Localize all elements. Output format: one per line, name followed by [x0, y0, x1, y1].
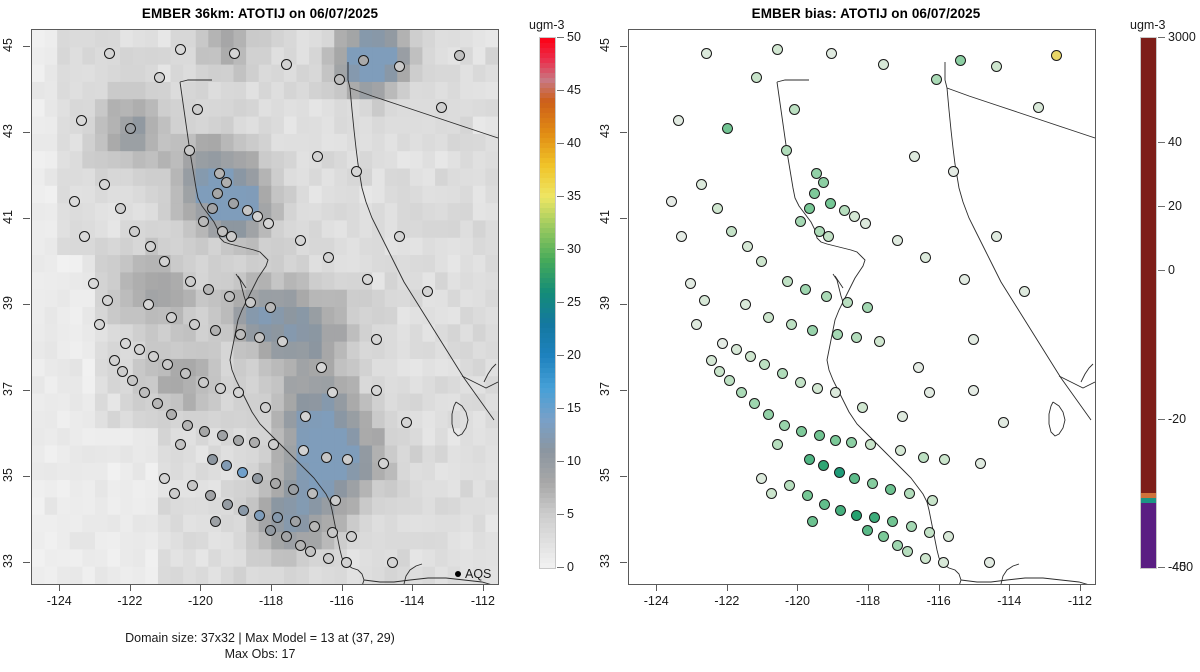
y-axis-tick-label: 37: [1, 374, 15, 404]
aqs-station-marker: [233, 387, 244, 398]
aqs-station-marker: [249, 437, 260, 448]
x-axis-tick-label: -114: [389, 594, 435, 608]
aqs-station-marker: [968, 385, 979, 396]
aqs-station-marker: [378, 458, 389, 469]
colorbar-tick: [1158, 270, 1165, 271]
aqs-station-marker: [673, 115, 684, 126]
colorbar-tick-label: 25: [567, 295, 581, 309]
colorbar-tick-label: -450: [1168, 560, 1193, 574]
aqs-station-marker: [924, 527, 935, 538]
aqs-station-marker: [834, 467, 845, 478]
aqs-station-marker: [867, 478, 878, 489]
aqs-station-marker: [166, 312, 177, 323]
y-axis-tick-label: 45: [598, 30, 612, 60]
aqs-station-marker: [175, 439, 186, 450]
aqs-station-marker: [252, 473, 263, 484]
aqs-station-marker: [221, 177, 232, 188]
x-axis-tick: [200, 584, 201, 591]
aqs-station-marker: [327, 527, 338, 538]
model-map[interactable]: [31, 29, 499, 585]
aqs-station-marker: [265, 525, 276, 536]
caption-line-2: Max Obs: 17: [10, 646, 510, 662]
colorbar-tick: [1158, 142, 1165, 143]
aqs-station-marker: [849, 473, 860, 484]
aqs-station-marker: [104, 48, 115, 59]
aqs-station-marker: [99, 179, 110, 190]
aqs-station-marker: [724, 375, 735, 386]
aqs-station-marker: [309, 521, 320, 532]
y-axis-tick: [620, 476, 627, 477]
aqs-station-marker: [802, 490, 813, 501]
bias-panel: EMBER bias: ATOTIJ on 06/07/2025 -124-12…: [600, 0, 1200, 672]
aqs-station-marker: [763, 312, 774, 323]
x-axis-tick-label: -116: [319, 594, 365, 608]
colorbar-tick: [1158, 37, 1165, 38]
aqs-station-marker: [887, 516, 898, 527]
x-axis-tick-label: -118: [248, 594, 294, 608]
aqs-station-marker: [233, 435, 244, 446]
aqs-station-marker: [749, 398, 760, 409]
aqs-station-marker: [224, 291, 235, 302]
aqs-station-marker: [796, 426, 807, 437]
colorbar-segment: [540, 563, 555, 568]
x-axis-tick-label: -116: [916, 594, 962, 608]
aqs-station-marker: [968, 334, 979, 345]
aqs-station-marker: [772, 439, 783, 450]
colorbar-tick-label: 30: [567, 242, 581, 256]
aqs-station-marker: [169, 488, 180, 499]
aqs-station-marker: [955, 55, 966, 66]
aqs-station-marker: [129, 226, 140, 237]
colorbar-gradient-strip: [539, 37, 556, 569]
aqs-station-marker: [943, 531, 954, 542]
aqs-station-marker: [162, 359, 173, 370]
y-axis-tick: [620, 218, 627, 219]
aqs-station-marker: [454, 50, 465, 61]
aqs-station-marker: [835, 505, 846, 516]
x-axis-tick-label: -122: [107, 594, 153, 608]
y-axis-tick: [23, 218, 30, 219]
aqs-station-marker: [892, 540, 903, 551]
aqs-station-marker: [316, 362, 327, 373]
x-axis-tick: [868, 584, 869, 591]
y-axis-tick: [23, 562, 30, 563]
aqs-station-marker: [789, 104, 800, 115]
x-axis-tick-label: -112: [1057, 594, 1103, 608]
x-axis-tick: [797, 584, 798, 591]
caption-line-1: Domain size: 37x32 | Max Model = 13 at (…: [10, 630, 510, 646]
aqs-station-marker: [185, 276, 196, 287]
aqs-station-marker: [800, 284, 811, 295]
y-axis-tick: [620, 46, 627, 47]
aqs-station-marker: [298, 445, 309, 456]
aqs-station-marker: [260, 402, 271, 413]
aqs-station-marker: [842, 297, 853, 308]
aqs-station-marker: [125, 123, 136, 134]
aqs-station-marker: [895, 445, 906, 456]
aqs-station-marker: [913, 362, 924, 373]
colorbar-tick-label: 50: [567, 30, 581, 44]
x-axis-tick: [727, 584, 728, 591]
aqs-station-marker: [902, 546, 913, 557]
aqs-station-marker: [878, 531, 889, 542]
aqs-station-marker: [931, 74, 942, 85]
colorbar-tick: [557, 302, 564, 303]
aqs-station-marker: [756, 473, 767, 484]
aqs-station-marker: [215, 383, 226, 394]
aqs-station-marker: [145, 241, 156, 252]
colorbar-tick-label: -20: [1168, 412, 1186, 426]
aqs-station-marker: [804, 203, 815, 214]
aqs-station-marker: [187, 480, 198, 491]
aqs-station-marker: [892, 235, 903, 246]
aqs-station-marker: [706, 355, 717, 366]
aqs-station-marker: [766, 488, 777, 499]
aqs-station-marker: [212, 188, 223, 199]
colorbar-tick: [1158, 206, 1165, 207]
aqs-station-marker: [865, 439, 876, 450]
aqs-station-marker: [394, 61, 405, 72]
y-axis-tick-label: 33: [598, 546, 612, 576]
aqs-station-marker: [786, 319, 797, 330]
aqs-station-marker: [228, 198, 239, 209]
colorbar-tick-label: 20: [1168, 199, 1182, 213]
aqs-station-marker: [991, 61, 1002, 72]
bias-map[interactable]: [628, 29, 1096, 585]
x-axis-tick-label: -114: [986, 594, 1032, 608]
aqs-station-marker: [300, 411, 311, 422]
aqs-station-marker: [207, 203, 218, 214]
aqs-station-marker: [210, 325, 221, 336]
aqs-station-marker: [143, 299, 154, 310]
aqs-station-marker: [272, 512, 283, 523]
aqs-station-marker: [358, 55, 369, 66]
aqs-station-marker: [904, 488, 915, 499]
aqs-station-marker: [346, 531, 357, 542]
colorbar-tick: [1158, 567, 1165, 568]
aqs-station-marker: [849, 211, 860, 222]
aqs-station-marker: [371, 334, 382, 345]
x-axis-tick: [342, 584, 343, 591]
aqs-station-marker: [277, 336, 288, 347]
y-axis-tick-label: 35: [598, 460, 612, 490]
aqs-station-marker: [998, 417, 1009, 428]
model-station-markers: [32, 30, 498, 584]
aqs-station-marker: [115, 203, 126, 214]
aqs-station-marker: [321, 452, 332, 463]
aqs-station-marker: [270, 478, 281, 489]
colorbar-tick-label: 0: [1168, 263, 1175, 277]
aqs-station-marker: [127, 375, 138, 386]
aqs-station-marker: [189, 319, 200, 330]
aqs-station-marker: [217, 430, 228, 441]
aqs-station-marker: [199, 426, 210, 437]
y-axis-tick: [620, 562, 627, 563]
aqs-station-marker: [819, 499, 830, 510]
model-panel: EMBER 36km: ATOTIJ on 06/07/2025: [0, 0, 600, 672]
aqs-station-marker: [736, 387, 747, 398]
colorbar-tick-label: 5: [567, 507, 574, 521]
aqs-station-marker: [756, 256, 767, 267]
aqs-station-marker: [265, 302, 276, 313]
x-axis-tick-label: -124: [633, 594, 679, 608]
x-axis-tick-label: -120: [177, 594, 223, 608]
aqs-station-marker: [696, 179, 707, 190]
aqs-station-marker: [210, 516, 221, 527]
aqs-station-marker: [76, 115, 87, 126]
aqs-station-marker: [948, 166, 959, 177]
colorbar-unit-label: ugm-3: [529, 18, 564, 32]
aqs-station-marker: [226, 231, 237, 242]
aqs-station-marker: [1033, 102, 1044, 113]
aqs-station-marker: [281, 531, 292, 542]
aqs-station-marker: [924, 387, 935, 398]
aqs-station-marker: [717, 338, 728, 349]
aqs-station-marker: [295, 235, 306, 246]
aqs-station-marker: [192, 104, 203, 115]
aqs-station-marker: [362, 274, 373, 285]
y-axis-tick: [23, 46, 30, 47]
aqs-station-marker: [795, 216, 806, 227]
aqs-station-marker: [742, 241, 753, 252]
aqs-station-marker: [79, 231, 90, 242]
bias-station-markers: [629, 30, 1095, 584]
aqs-station-marker: [825, 198, 836, 209]
aqs-station-marker: [134, 344, 145, 355]
bias-colorbar-gradient-strip: [1140, 37, 1157, 569]
aqs-legend-left: AQS: [455, 567, 491, 581]
aqs-station-marker: [722, 123, 733, 134]
aqs-station-marker: [288, 484, 299, 495]
aqs-station-marker: [242, 205, 253, 216]
aqs-station-marker: [878, 59, 889, 70]
aqs-station-marker: [203, 284, 214, 295]
aqs-station-marker: [342, 454, 353, 465]
aqs-station-marker: [857, 402, 868, 413]
aqs-station-marker: [812, 383, 823, 394]
x-axis-tick: [1080, 584, 1081, 591]
x-axis-tick: [59, 584, 60, 591]
aqs-station-marker: [751, 72, 762, 83]
aqs-station-marker: [159, 256, 170, 267]
aqs-station-marker: [897, 411, 908, 422]
aqs-station-marker: [222, 499, 233, 510]
colorbar-tick: [557, 355, 564, 356]
aqs-station-marker: [763, 409, 774, 420]
aqs-station-marker: [862, 302, 873, 313]
aqs-station-marker: [975, 458, 986, 469]
aqs-station-marker: [939, 454, 950, 465]
aqs-station-marker: [69, 196, 80, 207]
aqs-station-marker: [159, 473, 170, 484]
aqs-station-marker: [814, 430, 825, 441]
aqs-station-marker: [759, 359, 770, 370]
aqs-station-marker: [906, 521, 917, 532]
aqs-station-marker: [307, 488, 318, 499]
aqs-station-marker: [731, 344, 742, 355]
aqs-station-marker: [109, 355, 120, 366]
colorbar-tick: [1158, 419, 1165, 420]
aqs-station-marker: [281, 59, 292, 70]
aqs-station-marker: [745, 351, 756, 362]
aqs-station-marker: [184, 145, 195, 156]
x-axis-tick-label: -118: [845, 594, 891, 608]
y-axis-tick-label: 41: [598, 202, 612, 232]
colorbar-tick-label: 40: [1168, 135, 1182, 149]
aqs-station-marker: [809, 188, 820, 199]
x-axis-tick: [130, 584, 131, 591]
aqs-station-marker: [691, 319, 702, 330]
y-axis-tick-label: 35: [1, 460, 15, 490]
y-axis-tick-label: 33: [1, 546, 15, 576]
aqs-station-marker: [927, 495, 938, 506]
aqs-station-marker: [920, 553, 931, 564]
aqs-station-marker: [334, 74, 345, 85]
aqs-station-marker: [394, 231, 405, 242]
aqs-station-marker: [152, 398, 163, 409]
aqs-station-marker: [245, 297, 256, 308]
colorbar-tick: [557, 461, 564, 462]
x-axis-tick-label: -120: [774, 594, 820, 608]
y-axis-tick: [23, 304, 30, 305]
aqs-station-marker: [229, 48, 240, 59]
aqs-station-marker: [818, 177, 829, 188]
aqs-station-marker: [676, 231, 687, 242]
aqs-station-marker: [422, 286, 433, 297]
aqs-station-marker: [387, 557, 398, 568]
aqs-station-marker: [341, 557, 352, 568]
y-axis-tick: [620, 304, 627, 305]
aqs-station-marker: [777, 368, 788, 379]
aqs-station-marker: [254, 332, 265, 343]
aqs-station-marker: [238, 505, 249, 516]
colorbar-tick-label: 10: [567, 454, 581, 468]
colorbar-tick: [557, 567, 564, 568]
y-axis-tick-label: 39: [1, 288, 15, 318]
aqs-station-marker: [154, 72, 165, 83]
colorbar-tick-label: 20: [567, 348, 581, 362]
x-axis-tick-label: -112: [460, 594, 506, 608]
aqs-station-marker: [918, 452, 929, 463]
aqs-station-marker: [235, 329, 246, 340]
aqs-station-marker: [148, 351, 159, 362]
aqs-station-marker: [807, 516, 818, 527]
aqs-station-marker: [330, 495, 341, 506]
aqs-station-marker: [862, 525, 873, 536]
aqs-station-marker: [984, 557, 995, 568]
colorbar-tick-label: 40: [567, 136, 581, 150]
y-axis-tick-label: 41: [1, 202, 15, 232]
x-axis-tick: [656, 584, 657, 591]
aqs-station-marker: [263, 218, 274, 229]
aqs-station-marker: [120, 338, 131, 349]
aqs-station-marker: [252, 211, 263, 222]
y-axis-tick-label: 45: [1, 30, 15, 60]
y-axis-tick: [620, 390, 627, 391]
x-axis-tick: [483, 584, 484, 591]
aqs-station-marker: [685, 278, 696, 289]
aqs-station-marker: [166, 409, 177, 420]
colorbar-tick-label: 3000: [1168, 30, 1196, 44]
aqs-station-marker: [205, 490, 216, 501]
bias-page-title: EMBER bias: ATOTIJ on 06/07/2025: [602, 6, 1130, 21]
aqs-station-marker: [846, 437, 857, 448]
aqs-station-marker: [94, 319, 105, 330]
aqs-station-marker: [784, 480, 795, 491]
aqs-station-marker: [180, 368, 191, 379]
aqs-station-marker: [312, 151, 323, 162]
aqs-station-marker: [371, 385, 382, 396]
aqs-station-marker: [221, 460, 232, 471]
aqs-station-marker: [323, 252, 334, 263]
aqs-station-marker: [909, 151, 920, 162]
colorbar-tick: [557, 37, 564, 38]
aqs-station-marker: [714, 366, 725, 377]
aqs-station-marker: [781, 145, 792, 156]
y-axis-tick: [23, 132, 30, 133]
aqs-station-marker: [323, 553, 334, 564]
colorbar-segment: [1141, 563, 1156, 568]
aqs-station-marker: [804, 454, 815, 465]
aqs-station-marker: [198, 377, 209, 388]
aqs-station-marker: [175, 44, 186, 55]
aqs-station-marker: [1019, 286, 1030, 297]
aqs-station-marker: [830, 435, 841, 446]
page-title: EMBER 36km: ATOTIJ on 06/07/2025: [0, 6, 520, 21]
aqs-station-marker: [254, 510, 265, 521]
aqs-station-marker: [401, 417, 412, 428]
aqs-dot-icon: [455, 571, 461, 577]
aqs-station-marker: [295, 540, 306, 551]
aqs-station-marker: [237, 467, 248, 478]
aqs-station-marker: [959, 274, 970, 285]
colorbar-tick: [557, 249, 564, 250]
aqs-station-marker: [772, 44, 783, 55]
y-axis-tick-label: 43: [1, 116, 15, 146]
aqs-station-marker: [830, 387, 841, 398]
model-caption: Domain size: 37x32 | Max Model = 13 at (…: [10, 630, 510, 662]
aqs-station-marker: [740, 299, 751, 310]
aqs-station-marker: [823, 231, 834, 242]
aqs-station-marker: [807, 325, 818, 336]
aqs-station-marker: [102, 295, 113, 306]
aqs-station-marker: [198, 216, 209, 227]
aqs-station-marker: [351, 166, 362, 177]
aqs-station-marker: [88, 278, 99, 289]
aqs-station-marker: [821, 291, 832, 302]
colorbar-tick: [557, 143, 564, 144]
colorbar-tick-label: 15: [567, 401, 581, 415]
colorbar-tick: [557, 408, 564, 409]
y-axis-tick-label: 43: [598, 116, 612, 146]
aqs-station-marker: [779, 420, 790, 431]
aqs-station-marker: [117, 366, 128, 377]
aqs-station-marker: [268, 439, 279, 450]
colorbar-tick: [557, 196, 564, 197]
aqs-station-marker: [207, 454, 218, 465]
aqs-station-marker: [826, 48, 837, 59]
aqs-station-marker: [860, 218, 871, 229]
aqs-station-marker: [874, 336, 885, 347]
colorbar-tick-label: 0: [567, 560, 574, 574]
y-axis-tick: [620, 132, 627, 133]
aqs-station-marker: [726, 226, 737, 237]
aqs-station-marker: [851, 332, 862, 343]
aqs-station-marker: [139, 387, 150, 398]
y-axis-tick-label: 39: [598, 288, 612, 318]
y-axis-tick: [23, 476, 30, 477]
aqs-station-marker: [885, 484, 896, 495]
